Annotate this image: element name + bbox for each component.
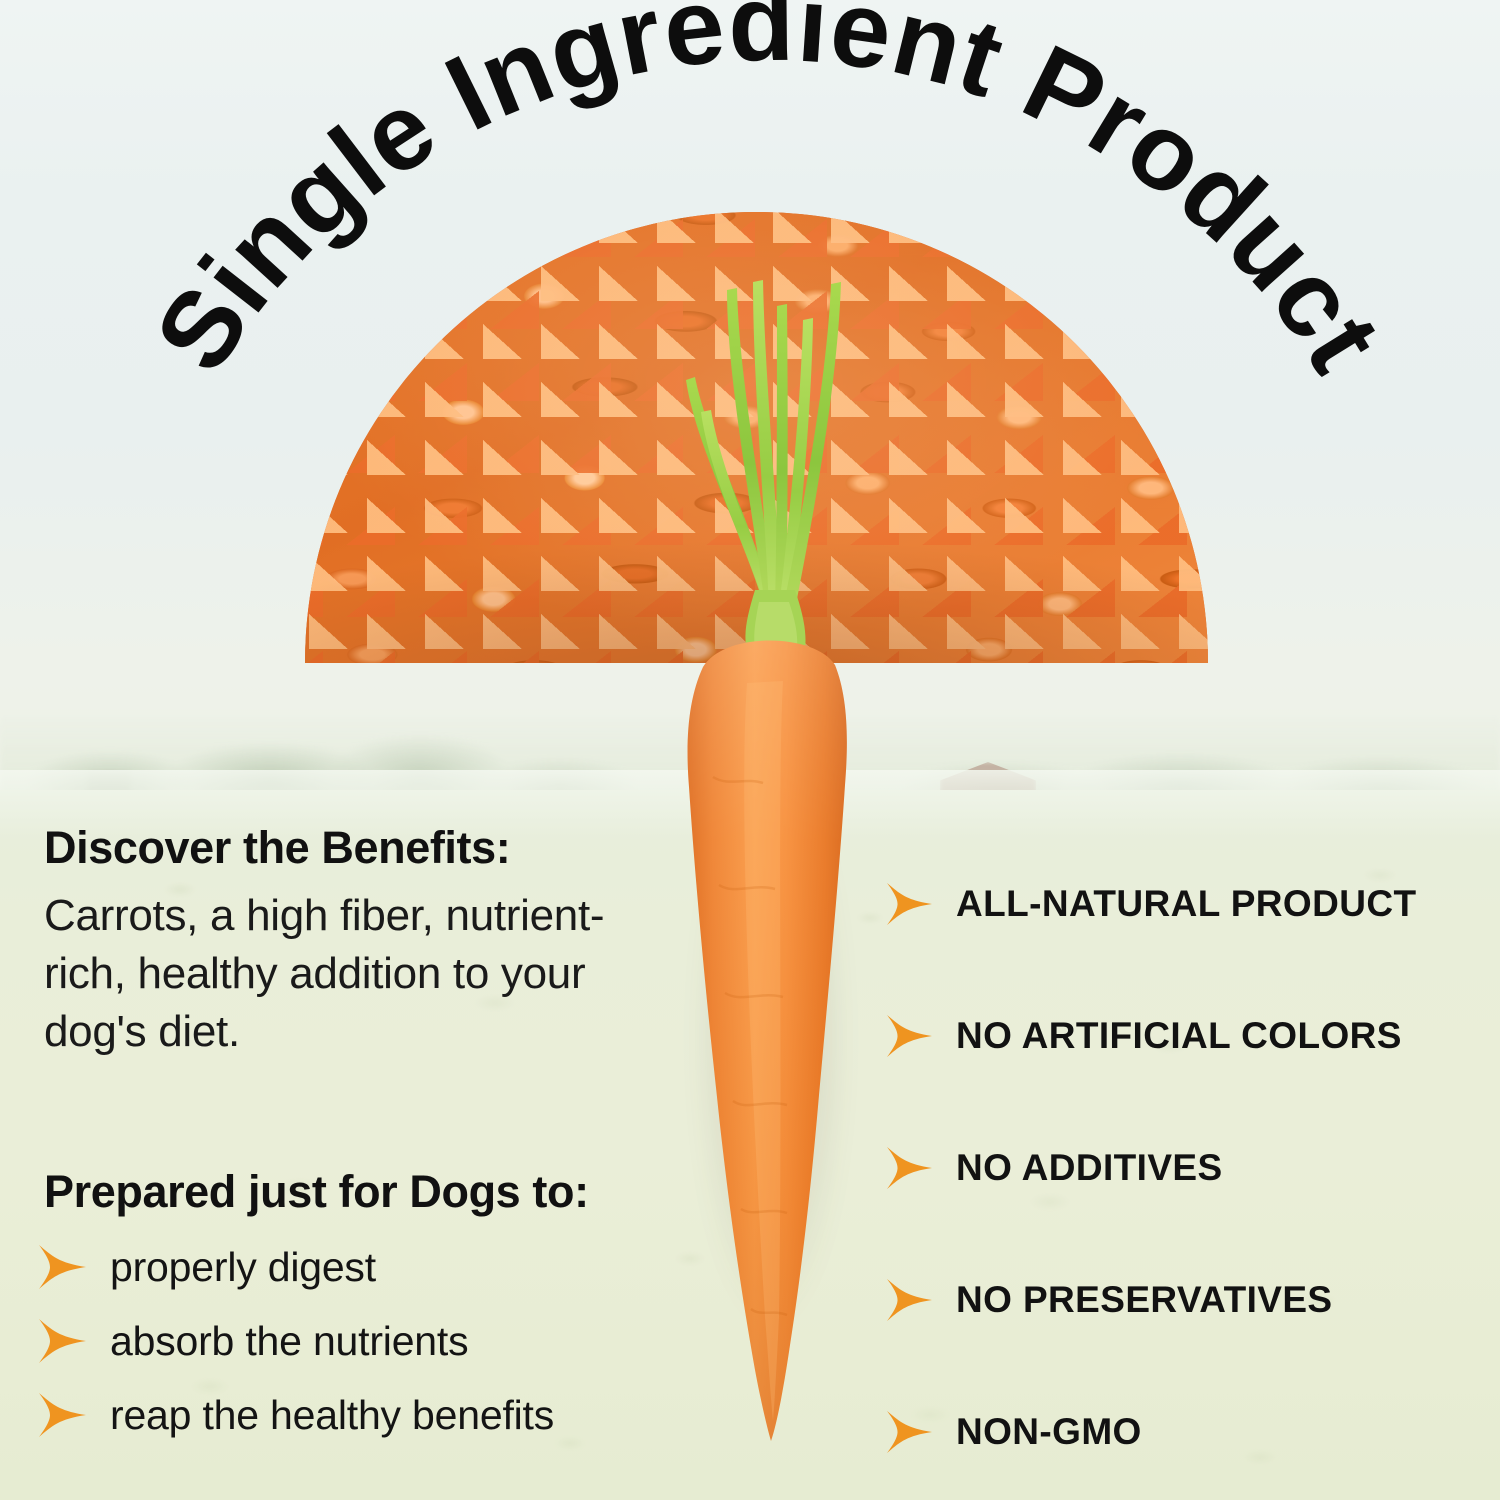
list-item: reap the healthy benefits — [36, 1378, 656, 1452]
arrow-right-icon — [36, 1392, 88, 1438]
claim-label: NO ARTIFICIAL COLORS — [956, 1015, 1402, 1057]
list-item-label: reap the healthy benefits — [110, 1392, 554, 1439]
benefits-body-text: Carrots, a high fiber, nutrient-rich, he… — [44, 887, 644, 1061]
benefits-heading: Discover the Benefits: — [44, 824, 644, 873]
list-item: NO ARTIFICIAL COLORS — [884, 970, 1484, 1102]
infographic-canvas: Single Ingredient Product — [0, 0, 1500, 1500]
list-item: ALL-NATURAL PRODUCT — [884, 838, 1484, 970]
claim-label: ALL-NATURAL PRODUCT — [956, 883, 1416, 925]
list-item: properly digest — [36, 1230, 656, 1304]
claim-label: NO PRESERVATIVES — [956, 1279, 1333, 1321]
carrot-greens-icon — [655, 272, 891, 672]
list-item: NO PRESERVATIVES — [884, 1234, 1484, 1366]
prepared-list: properly digest absorb the nutrients rea… — [36, 1230, 656, 1452]
arrow-right-icon — [884, 1146, 934, 1190]
list-item-label: absorb the nutrients — [110, 1318, 468, 1365]
claims-list: ALL-NATURAL PRODUCT NO ARTIFICIAL COLORS… — [884, 838, 1484, 1498]
claim-label: NO ADDITIVES — [956, 1147, 1223, 1189]
arrow-right-icon — [884, 1278, 934, 1322]
arrow-right-icon — [884, 1014, 934, 1058]
list-item: NO ADDITIVES — [884, 1102, 1484, 1234]
list-item-label: properly digest — [110, 1244, 376, 1291]
arrow-right-icon — [884, 1410, 934, 1454]
claim-label: NON-GMO — [956, 1411, 1142, 1453]
prepared-heading: Prepared just for Dogs to: — [44, 1166, 589, 1218]
arrow-right-icon — [36, 1244, 88, 1290]
arrow-right-icon — [36, 1318, 88, 1364]
carrot-root-icon — [683, 627, 859, 1447]
list-item: NON-GMO — [884, 1366, 1484, 1498]
list-item: absorb the nutrients — [36, 1304, 656, 1378]
benefits-block: Discover the Benefits: Carrots, a high f… — [44, 824, 644, 1061]
carrot-illustration — [655, 272, 891, 1447]
arrow-right-icon — [884, 882, 934, 926]
